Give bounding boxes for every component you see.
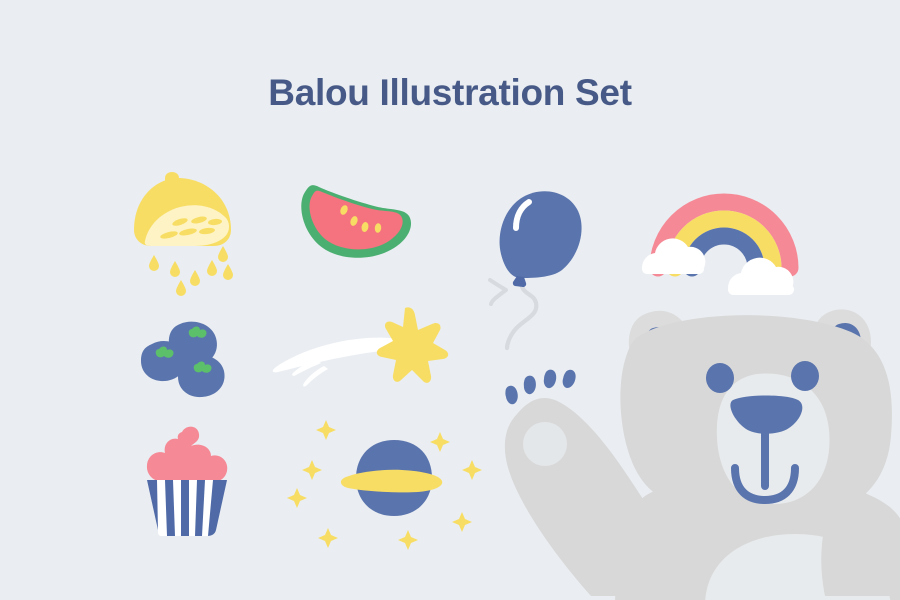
watermelon-illustration xyxy=(292,180,422,275)
shooting-star-star xyxy=(377,307,448,382)
planet-illustration xyxy=(290,412,500,542)
illustration-canvas: Balou Illustration Set xyxy=(0,0,900,600)
cupcake-illustration xyxy=(134,420,249,540)
cupcake-wrapper xyxy=(147,480,227,536)
lemon-body xyxy=(134,172,231,246)
lemon-juice-drops xyxy=(149,246,233,296)
shooting-star-trail xyxy=(273,338,396,387)
lemon-illustration xyxy=(118,160,268,310)
bear-right-eye xyxy=(791,361,819,391)
rainbow-illustration xyxy=(640,160,810,295)
bear-illustration xyxy=(495,296,900,600)
blueberries-illustration xyxy=(132,308,252,408)
bear-paw-pad xyxy=(523,422,567,466)
balloon-body xyxy=(500,191,582,278)
page-title: Balou Illustration Set xyxy=(0,72,900,114)
bear-left-eye xyxy=(706,363,734,393)
blueberry-3 xyxy=(178,355,225,397)
balloon-knot xyxy=(513,276,526,287)
shooting-star-illustration xyxy=(272,304,447,394)
cupcake-frosting xyxy=(147,427,227,483)
